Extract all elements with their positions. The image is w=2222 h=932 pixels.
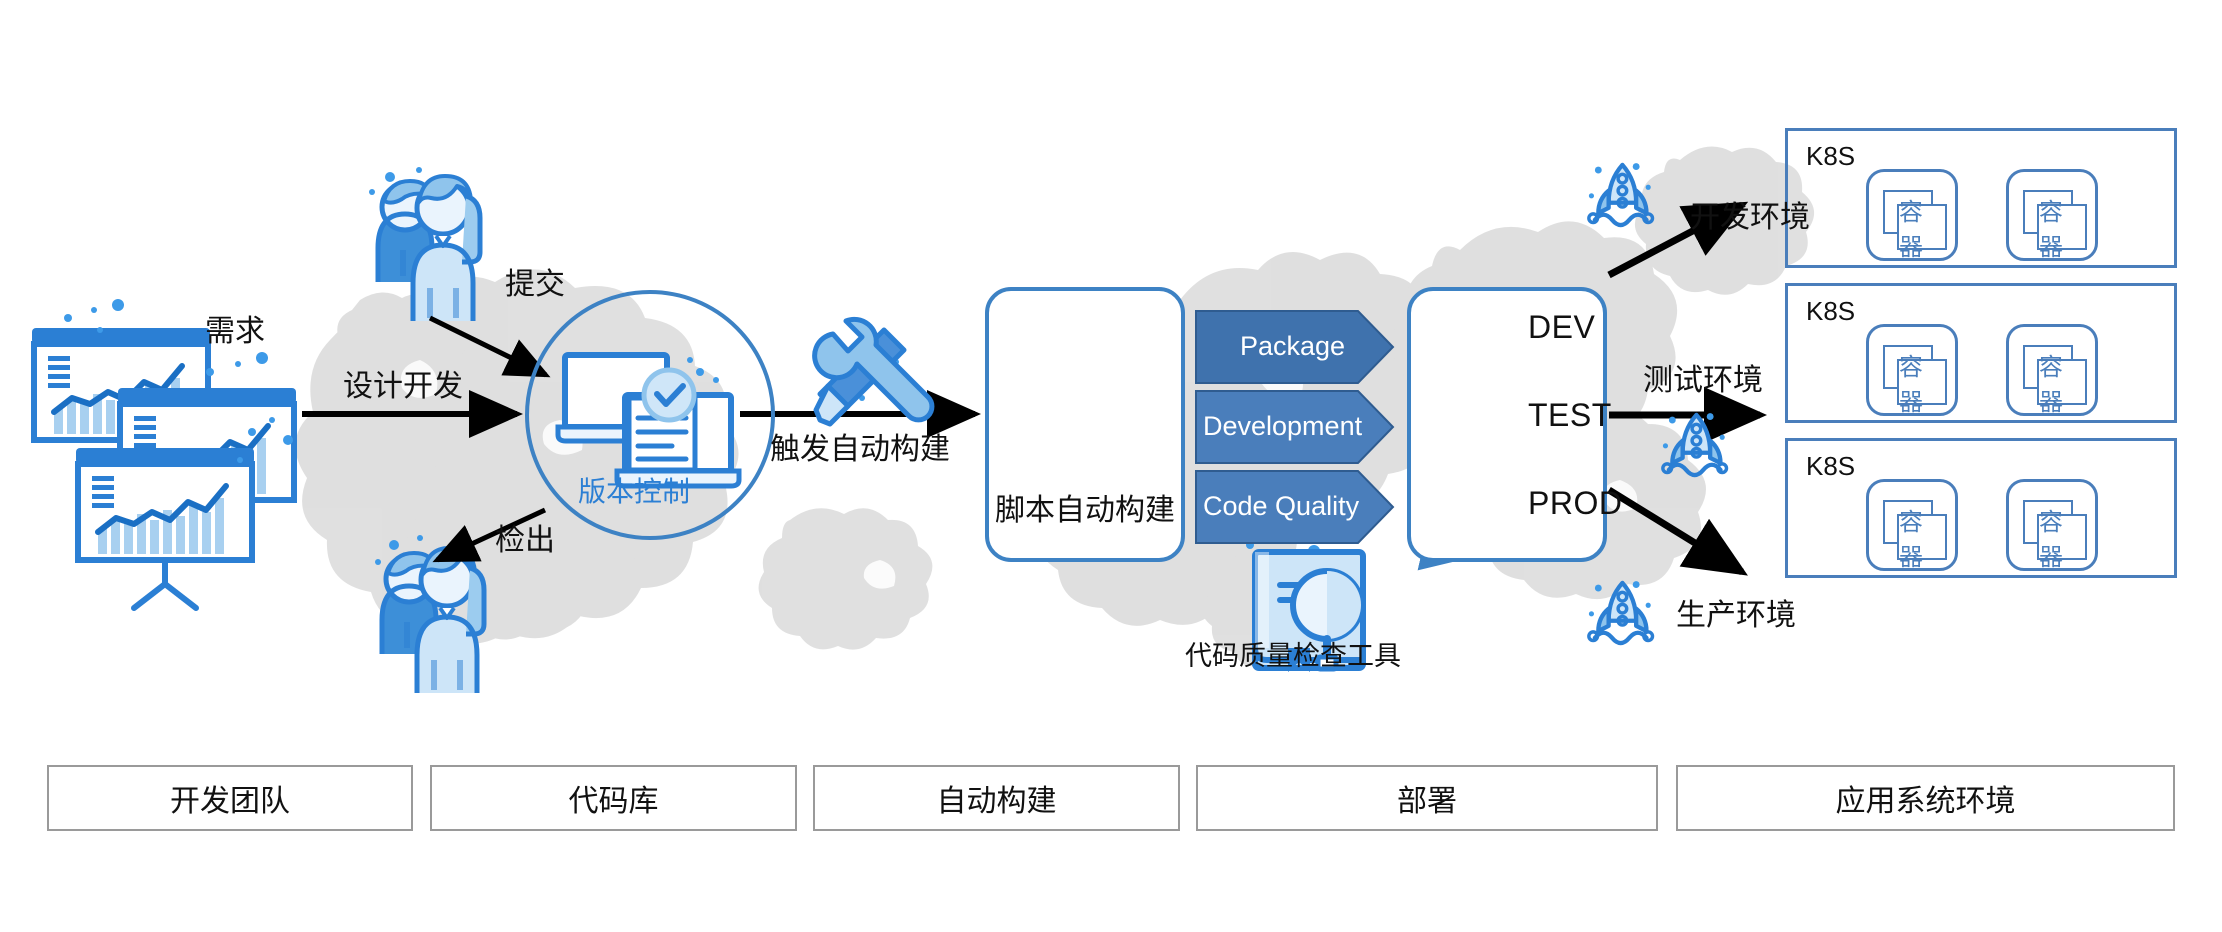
env-label-prod: 生产环境 bbox=[1676, 601, 1796, 631]
container-label: 容器 bbox=[2039, 502, 2085, 572]
rocket-icon-dev bbox=[1589, 163, 1653, 225]
requirements-label: 需求 bbox=[205, 317, 265, 347]
deploy-stage-label-dev: DEV bbox=[1528, 311, 1595, 343]
checkout-label: 检出 bbox=[495, 526, 555, 556]
banner-label-code-quality: Code Quality bbox=[1203, 493, 1359, 520]
rocket-icon-test bbox=[1663, 413, 1727, 475]
legend-label: 部署 bbox=[1397, 776, 1457, 820]
banner-label-development: Development bbox=[1203, 413, 1362, 440]
pod[interactable]: 容器 bbox=[2006, 324, 2098, 416]
k8s-title: K8S bbox=[1806, 143, 1855, 169]
pod[interactable]: 容器 bbox=[1866, 169, 1958, 261]
deploy-stage-label-prod: PROD bbox=[1528, 487, 1622, 519]
container-front: 容器 bbox=[2037, 514, 2087, 560]
deploy-stage-label-test: TEST bbox=[1528, 399, 1612, 431]
env-label-test: 测试环境 bbox=[1643, 366, 1763, 396]
rocket-icon-prod bbox=[1589, 581, 1653, 643]
version-control-label: 版本控制 bbox=[578, 478, 690, 506]
legend-label: 应用系统环境 bbox=[1836, 776, 2016, 820]
pod[interactable]: 容器 bbox=[2006, 479, 2098, 571]
pod[interactable]: 容器 bbox=[1866, 324, 1958, 416]
build-label: 脚本自动构建 bbox=[995, 496, 1175, 526]
pod[interactable]: 容器 bbox=[2006, 169, 2098, 261]
k8s-cluster-prod[interactable]: K8S 容器 容器 bbox=[1785, 438, 2177, 578]
legend-label: 自动构建 bbox=[937, 776, 1057, 820]
legend-item-dev-team[interactable]: 开发团队 bbox=[47, 765, 413, 831]
env-label-dev: 开发环境 bbox=[1690, 203, 1810, 233]
container-front: 容器 bbox=[1897, 204, 1947, 250]
legend-label: 代码库 bbox=[569, 776, 659, 820]
banner-label-package: Package bbox=[1240, 333, 1345, 360]
container-label: 容器 bbox=[1899, 347, 1945, 417]
legend-item-auto-build[interactable]: 自动构建 bbox=[813, 765, 1180, 831]
commit-label: 提交 bbox=[505, 270, 565, 300]
k8s-title: K8S bbox=[1806, 453, 1855, 479]
container-label: 容器 bbox=[2039, 347, 2085, 417]
legend-item-code-repo[interactable]: 代码库 bbox=[430, 765, 797, 831]
container-front: 容器 bbox=[1897, 359, 1947, 405]
container-front: 容器 bbox=[2037, 204, 2087, 250]
legend-label: 开发团队 bbox=[170, 776, 290, 820]
arrow-to-prod-env bbox=[1609, 490, 1742, 572]
diagram-canvas: K8S 容器 容器 K8S 容器 容器 K8 bbox=[0, 0, 2222, 932]
trigger-build-label: 触发自动构建 bbox=[770, 435, 950, 465]
container-label: 容器 bbox=[1899, 502, 1945, 572]
k8s-title: K8S bbox=[1806, 298, 1855, 324]
arrow-commit bbox=[430, 318, 546, 375]
design-dev-label: 设计开发 bbox=[343, 372, 463, 402]
team-people-icon-top bbox=[369, 167, 480, 321]
team-people-icon-bottom bbox=[375, 535, 484, 693]
container-label: 容器 bbox=[2039, 192, 2085, 262]
k8s-cluster-dev[interactable]: K8S 容器 容器 bbox=[1785, 128, 2177, 268]
pod[interactable]: 容器 bbox=[1866, 479, 1958, 571]
legend-item-app-env[interactable]: 应用系统环境 bbox=[1676, 765, 2175, 831]
legend-item-deploy[interactable]: 部署 bbox=[1196, 765, 1658, 831]
container-label: 容器 bbox=[1899, 192, 1945, 262]
container-front: 容器 bbox=[2037, 359, 2087, 405]
code-quality-tool-label: 代码质量检查工具 bbox=[1185, 643, 1401, 670]
wrench-screwdriver-icon bbox=[815, 317, 932, 424]
k8s-cluster-test[interactable]: K8S 容器 容器 bbox=[1785, 283, 2177, 423]
container-front: 容器 bbox=[1897, 514, 1947, 560]
